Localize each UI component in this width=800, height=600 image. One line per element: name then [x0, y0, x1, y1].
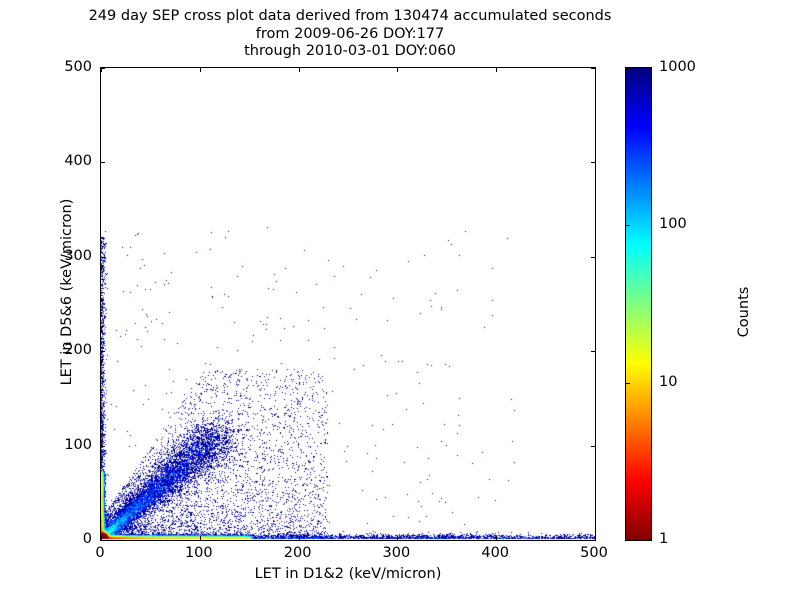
- colorbar-tick-label: 1000: [659, 59, 696, 75]
- title-line-2: from 2009-06-26 DOY:177: [0, 26, 700, 44]
- colorbar-label: Counts: [736, 212, 752, 412]
- title-line-1: 249 day SEP cross plot data derived from…: [0, 8, 700, 26]
- colorbar-tick-label: 100: [659, 216, 687, 232]
- x-axis-tick: [397, 536, 398, 540]
- x-axis-tick-top: [200, 68, 201, 72]
- x-axis-tick-label: 0: [70, 545, 130, 561]
- x-axis-tick-top: [299, 68, 300, 72]
- y-axis-tick: [101, 446, 105, 447]
- y-axis-tick-right: [591, 446, 595, 447]
- y-axis-tick-right: [591, 351, 595, 352]
- x-axis-tick-label: 200: [268, 545, 328, 561]
- y-axis-label: LET in D5&6 (keV/micron): [59, 55, 75, 529]
- y-axis-tick-label: 200: [32, 342, 92, 358]
- x-axis-tick-top: [496, 68, 497, 72]
- colorbar-gradient: [626, 68, 651, 540]
- y-axis-tick-label: 300: [32, 248, 92, 264]
- colorbar: [625, 67, 652, 541]
- y-axis-tick-label: 100: [32, 437, 92, 453]
- y-axis-tick-right: [591, 162, 595, 163]
- x-axis-tick: [299, 536, 300, 540]
- title-line-3: through 2010-03-01 DOY:060: [0, 43, 700, 61]
- x-axis-tick: [595, 536, 596, 540]
- scatter-data-canvas: [101, 68, 595, 540]
- colorbar-tick-label: 1: [659, 531, 668, 547]
- y-axis-tick-right: [591, 257, 595, 258]
- plot-area: [100, 67, 596, 541]
- x-axis-tick-top: [397, 68, 398, 72]
- colorbar-tick: [626, 540, 630, 541]
- x-axis-tick-label: 100: [169, 545, 229, 561]
- x-axis-tick-top: [595, 68, 596, 72]
- y-axis-tick-label: 500: [32, 59, 92, 75]
- colorbar-tick: [626, 383, 630, 384]
- scatter-plot-figure: 249 day SEP cross plot data derived from…: [0, 0, 800, 600]
- y-axis-tick: [101, 540, 105, 541]
- x-axis-tick: [200, 536, 201, 540]
- x-axis-tick-label: 400: [465, 545, 525, 561]
- colorbar-tick: [626, 68, 630, 69]
- y-axis-tick: [101, 351, 105, 352]
- x-axis-label: LET in D1&2 (keV/micron): [100, 566, 596, 582]
- x-axis-tick-label: 500: [564, 545, 624, 561]
- colorbar-tick: [626, 225, 630, 226]
- y-axis-tick-label: 0: [32, 531, 92, 547]
- y-axis-tick: [101, 162, 105, 163]
- y-axis-tick-label: 400: [32, 153, 92, 169]
- y-axis-tick: [101, 68, 105, 69]
- x-axis-tick: [496, 536, 497, 540]
- figure-title: 249 day SEP cross plot data derived from…: [0, 8, 700, 61]
- x-axis-tick-label: 300: [366, 545, 426, 561]
- y-axis-tick-right: [591, 68, 595, 69]
- y-axis-tick-right: [591, 540, 595, 541]
- colorbar-tick-label: 10: [659, 374, 677, 390]
- y-axis-tick: [101, 257, 105, 258]
